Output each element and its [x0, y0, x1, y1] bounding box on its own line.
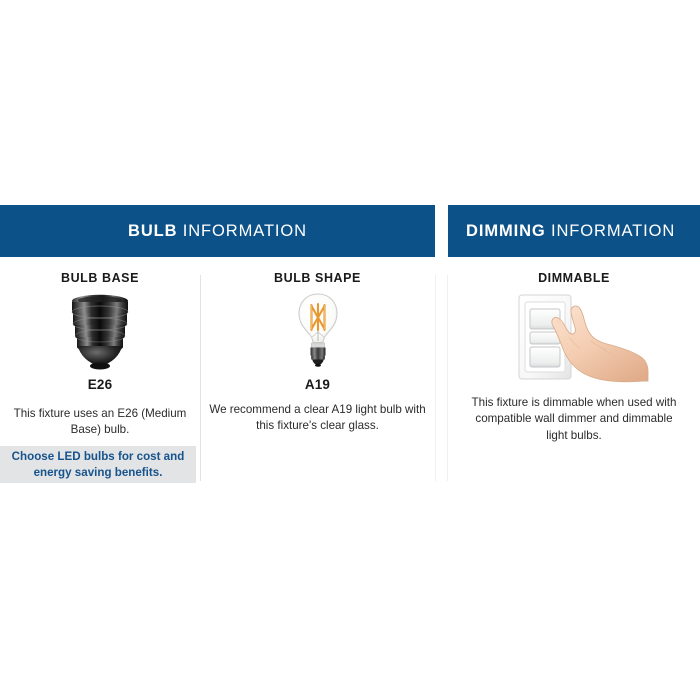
column-title-dimmable: DIMMABLE	[538, 271, 610, 285]
led-tip-text: Choose LED bulbs for cost and energy sav…	[10, 449, 186, 480]
panel-header-bulb-light: INFORMATION	[183, 222, 307, 241]
column-description-bulb-base: This fixture uses an E26 (Medium Base) b…	[11, 406, 189, 439]
column-bulb-shape: BULB SHAPE	[200, 257, 435, 495]
column-title-bulb-shape: BULB SHAPE	[274, 271, 361, 285]
column-title-bulb-base: BULB BASE	[61, 271, 139, 285]
e26-screw-base-icon	[64, 293, 136, 371]
column-code-bulb-shape: A19	[305, 377, 330, 392]
panel-dimming-information: DIMMING INFORMATION DIMMABLE	[448, 205, 700, 495]
panel-header-bulb-information: BULB INFORMATION	[0, 205, 435, 257]
figure-dimmable	[499, 289, 649, 385]
figure-bulb-base	[64, 291, 136, 373]
column-dimmable: DIMMABLE	[448, 257, 700, 495]
panel-header-dimming-light: INFORMATION	[551, 222, 675, 241]
panel-divider-left	[435, 275, 436, 481]
column-description-dimmable: This fixture is dimmable when used with …	[465, 395, 683, 444]
column-code-bulb-base: E26	[88, 377, 112, 392]
panel-header-dimming-strong: DIMMING	[466, 222, 546, 241]
column-description-bulb-shape: We recommend a clear A19 light bulb with…	[209, 402, 427, 435]
led-tip-box: Choose LED bulbs for cost and energy sav…	[0, 446, 196, 483]
wall-dimmer-switch-with-hand-icon	[499, 289, 649, 385]
a19-light-bulb-icon	[294, 292, 342, 372]
panel-bulb-information: BULB INFORMATION BULB BASE	[0, 205, 435, 495]
panel-header-bulb-strong: BULB	[128, 222, 177, 241]
panel-header-dimming-information: DIMMING INFORMATION	[448, 205, 700, 257]
panel-body-dimming-information: DIMMABLE	[448, 257, 700, 495]
figure-bulb-shape	[294, 291, 342, 373]
product-info-panels: BULB INFORMATION BULB BASE	[0, 205, 700, 495]
